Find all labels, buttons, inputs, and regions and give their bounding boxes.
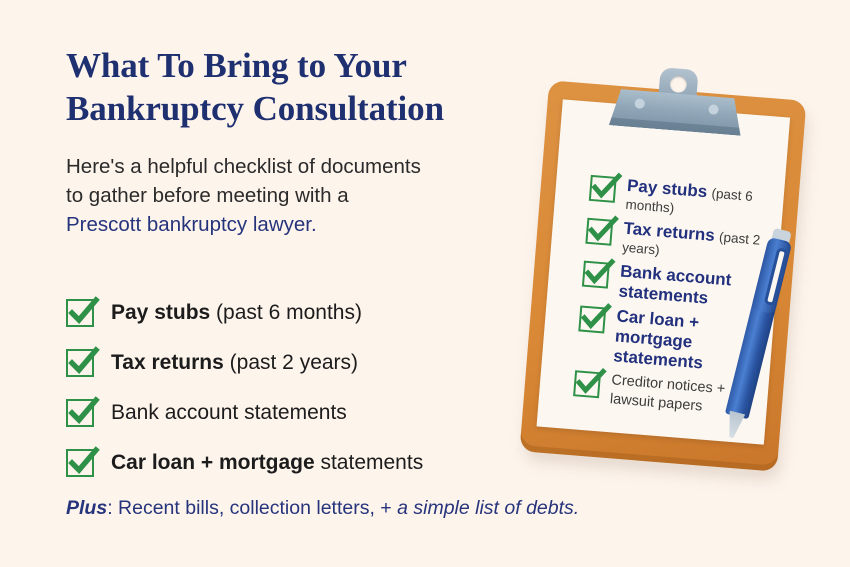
checkbox-checked-icon xyxy=(66,299,94,327)
pen-tip xyxy=(723,410,745,439)
checkbox-checked-icon xyxy=(66,449,94,477)
checklist-item-rest: statements xyxy=(315,451,424,474)
checklist-item-bold: Car loan + mortgage xyxy=(111,451,315,474)
checklist-item-label: Bank account statements xyxy=(111,401,347,425)
document-checklist: Pay stubs (past 6 months) Tax returns (p… xyxy=(66,288,536,488)
checkbox-checked-icon xyxy=(582,261,610,289)
plus-middle: : Recent bills, collection letters, + xyxy=(107,497,397,519)
plus-italic: a simple list of debts. xyxy=(397,497,579,519)
plus-footnote: Plus: Recent bills, collection letters, … xyxy=(66,497,579,520)
checklist-item-rest: Bank account statements xyxy=(111,401,347,424)
clip-hole xyxy=(669,75,687,93)
clipboard-item-title: Bank account statements xyxy=(618,262,732,308)
clipboard-item-title: Creditor notices + lawsuit papers xyxy=(609,372,725,414)
lawyer-link-text[interactable]: Prescott bankruptcy lawyer. xyxy=(66,210,526,239)
checkbox-checked-icon xyxy=(573,370,601,398)
clipboard-item-text: Tax returns (past 2 years) xyxy=(621,218,765,268)
checklist-item-label: Car loan + mortgage statements xyxy=(111,451,423,475)
subhead-line-2: to gather before meeting with a xyxy=(66,184,349,207)
checkbox-checked-icon xyxy=(578,305,606,333)
page-title: What To Bring to Your Bankruptcy Consult… xyxy=(66,44,526,130)
subhead-line-1: Here's a helpful checklist of documents xyxy=(66,155,421,178)
clipboard-clip-icon xyxy=(609,63,746,135)
checklist-item-label: Pay stubs (past 6 months) xyxy=(111,301,362,325)
checklist-item-bold: Pay stubs xyxy=(111,301,210,324)
checkbox-checked-icon xyxy=(585,218,613,246)
checklist-item: Tax returns (past 2 years) xyxy=(66,338,536,388)
checklist-item: Car loan + mortgage statements xyxy=(66,438,536,488)
clipboard-item-text: Pay stubs (past 6 months) xyxy=(625,175,769,225)
checkbox-checked-icon xyxy=(66,399,94,427)
headline-line-1: What To Bring to Your xyxy=(66,46,407,85)
checklist-item: Bank account statements xyxy=(66,388,536,438)
headline-line-2: Bankruptcy Consultation xyxy=(66,89,444,128)
checklist-item-rest: (past 2 years) xyxy=(224,351,358,374)
clipboard-illustration: Pay stubs (past 6 months) Tax returns (p… xyxy=(512,78,842,488)
left-content-column: What To Bring to Your Bankruptcy Consult… xyxy=(66,44,526,239)
clipboard-item-text: Bank account statements xyxy=(618,261,762,313)
checklist-item-bold: Tax returns xyxy=(111,351,224,374)
checklist-item: Pay stubs (past 6 months) xyxy=(66,288,536,338)
checkbox-checked-icon xyxy=(589,175,617,203)
clipboard-item-title: Car loan + mortgage statements xyxy=(613,306,704,372)
plus-prefix: Plus xyxy=(66,497,107,519)
subheading-text: Here's a helpful checklist of documents … xyxy=(66,152,526,239)
checklist-item-label: Tax returns (past 2 years) xyxy=(111,351,358,375)
checkbox-checked-icon xyxy=(66,349,94,377)
infographic-canvas: What To Bring to Your Bankruptcy Consult… xyxy=(0,0,850,567)
checklist-item-rest: (past 6 months) xyxy=(210,301,362,324)
